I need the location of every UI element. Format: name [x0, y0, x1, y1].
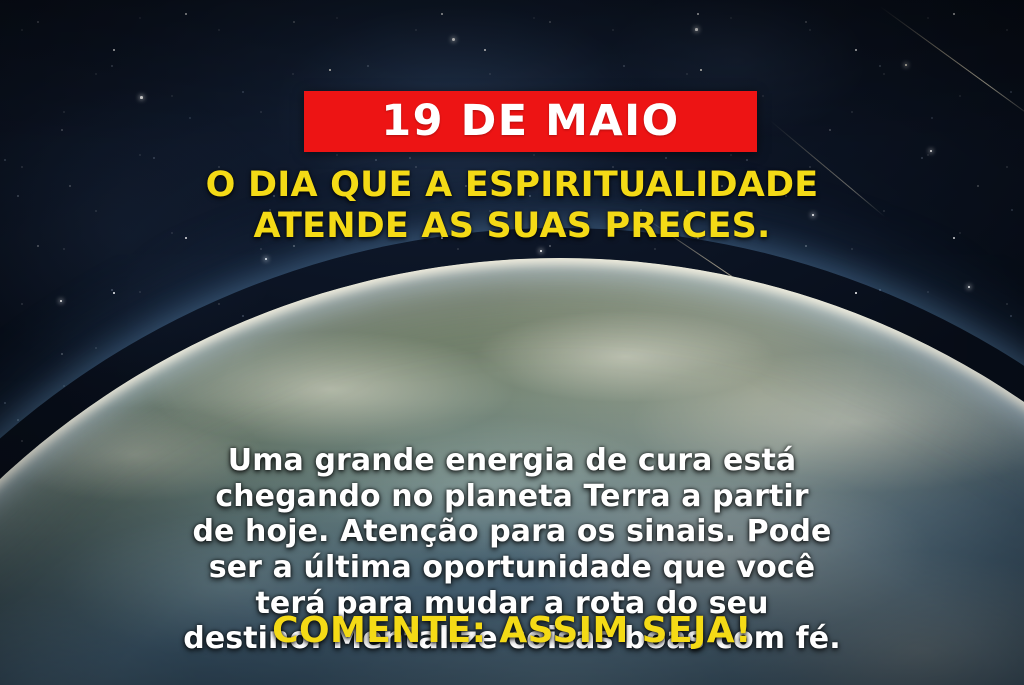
date-banner: 19 DE MAIO	[304, 91, 757, 152]
cta-label: COMENTE: ASSIM SEJA!	[272, 610, 752, 651]
body-line-2: chegando no planeta Terra a partir	[56, 479, 968, 515]
body-line-3: de hoje. Atenção para os sinais. Pode	[56, 514, 968, 550]
poster-content: 19 DE MAIO O DIA QUE A ESPIRITUALIDADE A…	[0, 0, 1024, 685]
headline: O DIA QUE A ESPIRITUALIDADE ATENDE AS SU…	[0, 165, 1024, 246]
poster-image: 19 DE MAIO O DIA QUE A ESPIRITUALIDADE A…	[0, 0, 1024, 685]
headline-line-2: ATENDE AS SUAS PRECES.	[48, 206, 976, 247]
call-to-action: COMENTE: ASSIM SEJA!	[0, 613, 1024, 649]
headline-line-1: O DIA QUE A ESPIRITUALIDADE	[48, 165, 976, 206]
body-line-1: Uma grande energia de cura está	[56, 443, 968, 479]
date-banner-label: 19 DE MAIO	[381, 100, 679, 143]
body-line-4: ser a última oportunidade que você	[56, 550, 968, 586]
